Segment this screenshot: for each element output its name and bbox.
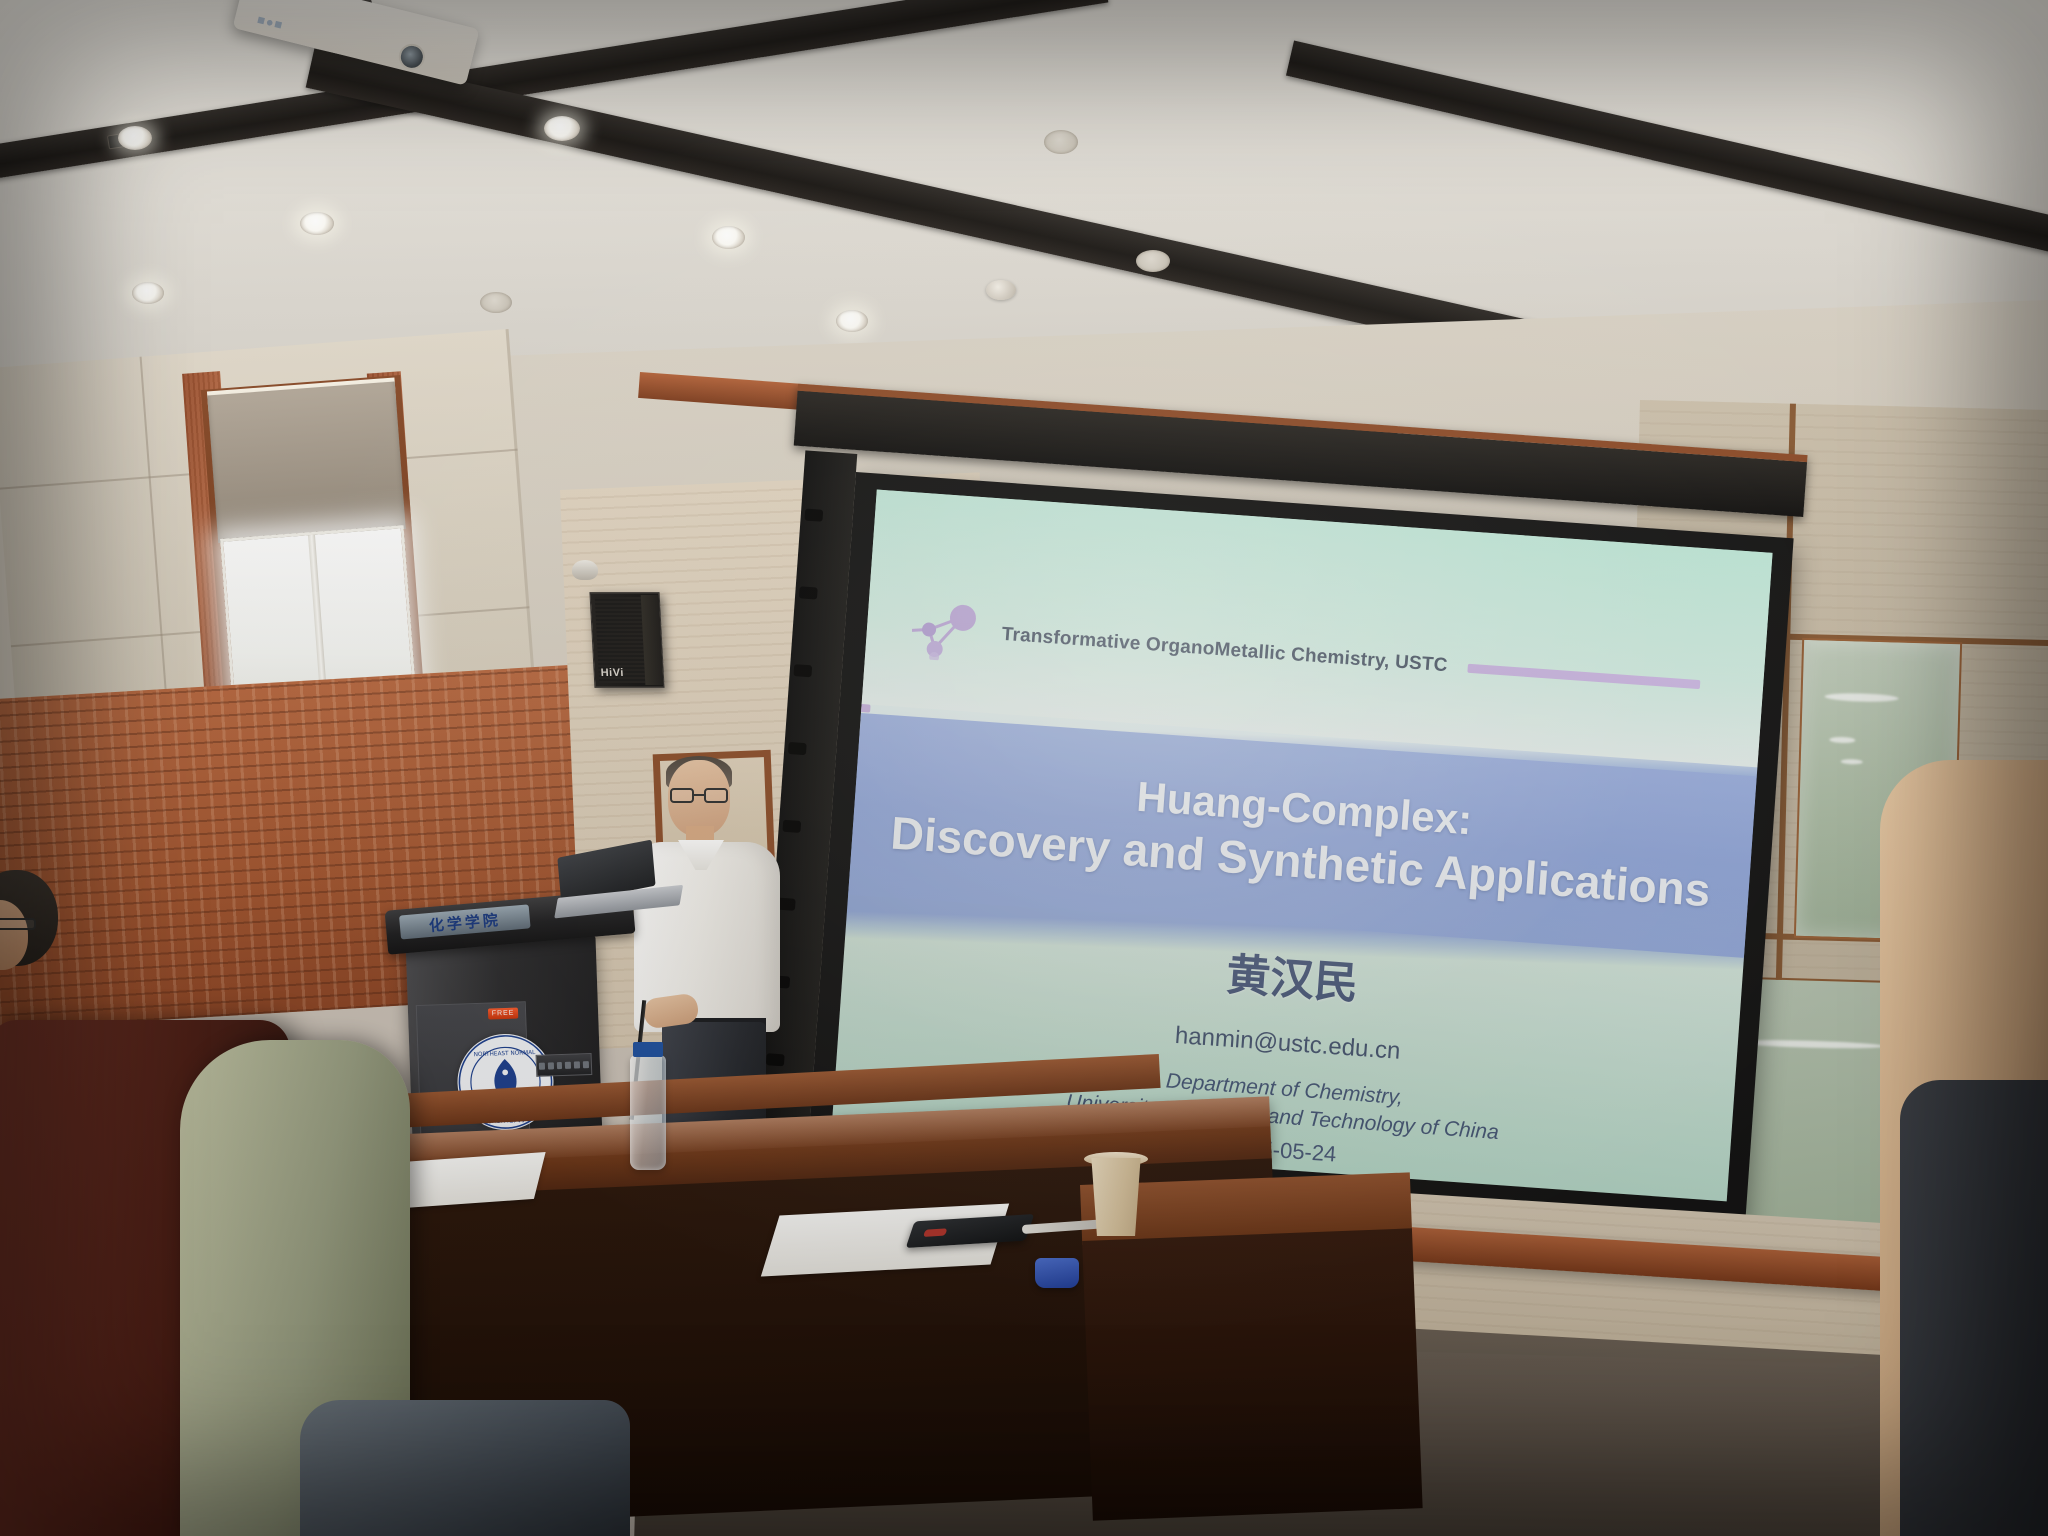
ceiling-downlight [118,126,152,150]
bottle-cap[interactable] [633,1042,663,1057]
ceiling-downlight [480,292,512,313]
smoke-detector [986,280,1016,300]
blue-bottle-cap[interactable] [1035,1258,1079,1288]
phone-indicator-light [923,1228,947,1237]
logo-accent-rule-right [1467,663,1700,688]
ceiling-downlight [836,310,868,332]
lectern-status-led: FREE [488,1008,518,1020]
roller-blind [207,381,406,543]
ceiling-downlight [544,116,580,141]
coat-on-chair [300,1400,630,1536]
table-right-front-face [1082,1228,1423,1520]
ceiling-downlight [132,282,164,304]
ceiling-camera-icon [572,560,598,580]
water-bottle[interactable] [630,1055,666,1170]
lectern-nameplate: 化学学院 [399,904,531,939]
ceiling-downlight [1136,250,1170,272]
molecule-logo-icon [910,598,992,663]
glasses-icon [670,788,728,803]
lecture-hall-photo: ■●■ HiVi [0,0,2048,1536]
paper-cup[interactable] [1088,1158,1144,1236]
ceiling-downlight [300,212,334,235]
lectern-nameplate-text: 化学学院 [428,908,502,935]
ceiling-downlight [1044,130,1078,154]
slide-org-label: Transformative OrganoMetallic Chemistry,… [1001,624,1448,678]
lectern-control-panel[interactable] [536,1053,593,1077]
projector-brand-logo: ■●■ [256,12,285,33]
foreground-person-right-clothing [1900,1080,2048,1536]
audience-glasses-icon [0,918,36,930]
ceiling-downlight [712,226,745,249]
projector-lens-icon [396,41,428,73]
